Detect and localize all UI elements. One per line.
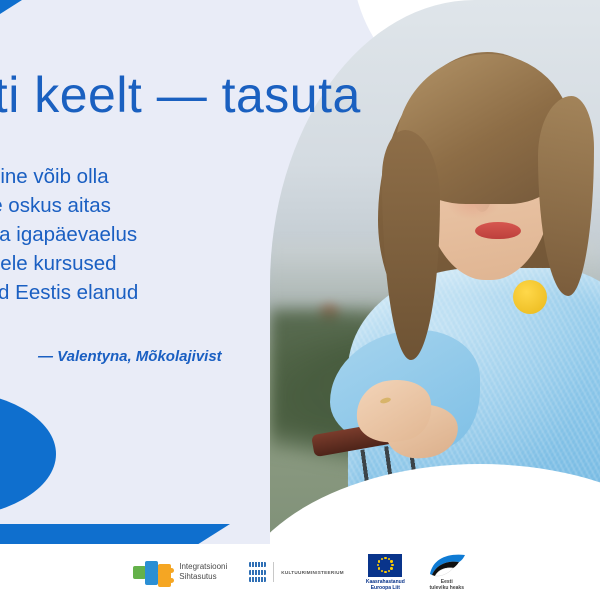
logo-integratsiooni-sihtasutus[interactable]: IntegratsiooniSihtasutus	[133, 561, 227, 583]
logo-eesti-tuleviku-heaks[interactable]: Eestituleviku heaks	[427, 553, 467, 591]
page-title: esti keelt — tasuta	[0, 70, 460, 120]
eu-star	[391, 564, 393, 566]
logo-divider	[273, 562, 274, 582]
footer-logo-row: IntegratsiooniSihtasutus KULTUURIMINISTE…	[0, 548, 600, 596]
estonian-coat-of-arms-icon	[249, 561, 266, 583]
puzzle-icon	[133, 561, 173, 583]
logo-integratsiooni-sihtasutus-label: IntegratsiooniSihtasutus	[179, 562, 227, 582]
lips	[475, 222, 521, 239]
logo-line-2: Sihtasutus	[179, 572, 216, 581]
eu-star	[388, 570, 390, 572]
logo-kultuuriministeerium[interactable]: KULTUURIMINISTEERIUM	[249, 561, 344, 583]
eu-star	[378, 567, 380, 569]
logo-euroopa-liit[interactable]: KaasrahastanudEuroopa Liit	[366, 554, 405, 591]
eu-star	[377, 564, 379, 566]
logo-line-2: tuleviku heaks	[430, 585, 464, 591]
quote-text: kohanemine võib olla esti keele oskus ai…	[0, 162, 276, 336]
eu-star	[390, 560, 392, 562]
eu-star	[390, 567, 392, 569]
logo-euroopa-liit-label: KaasrahastanudEuroopa Liit	[366, 579, 405, 591]
eu-star	[381, 558, 383, 560]
promo-banner: esti keelt — tasuta kohanemine võib olla…	[0, 0, 600, 600]
eu-star	[384, 557, 386, 559]
eu-star	[381, 570, 383, 572]
logo-line-2: Euroopa Liit	[371, 585, 400, 591]
estonian-flag-swoosh-icon	[427, 553, 467, 577]
eu-star	[378, 560, 380, 562]
logo-kultuuriministeerium-label: KULTUURIMINISTEERIUM	[281, 570, 344, 575]
logo-line-1: Integratsiooni	[179, 562, 227, 571]
eu-star	[384, 571, 386, 573]
eu-flag-icon	[368, 554, 402, 577]
quote-attribution: — Valentyna, Mõkolajivist	[38, 348, 222, 365]
yellow-collar-detail	[513, 280, 547, 314]
logo-eesti-tuleviku-heaks-label: Eestituleviku heaks	[430, 579, 464, 591]
